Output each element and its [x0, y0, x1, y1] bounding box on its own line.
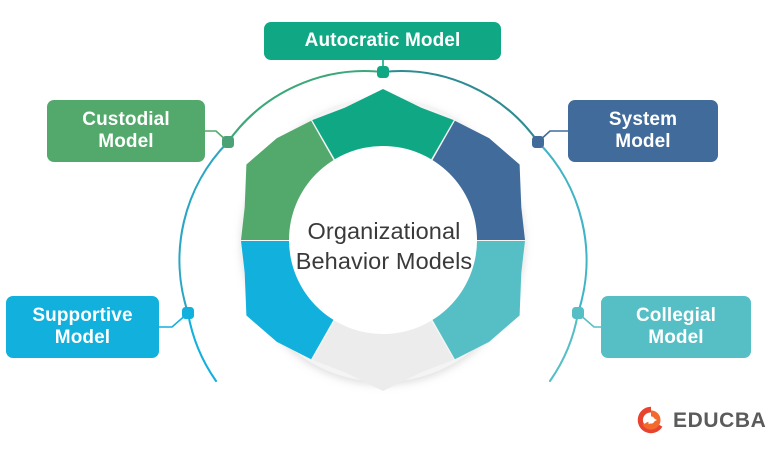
custodial-model-label-line-1: Custodial	[82, 109, 169, 131]
node-dot-supportive[interactable]	[182, 307, 194, 319]
educba-wordmark: EDUCBA	[673, 410, 766, 431]
educba-mark-icon	[636, 405, 666, 435]
center-title-line-1: Organizational	[248, 216, 520, 246]
autocratic-model-label[interactable]: Autocratic Model	[264, 22, 501, 60]
custodial-model-label[interactable]: Custodial Model	[47, 100, 205, 162]
collegial-model-label[interactable]: Collegial Model	[601, 296, 751, 358]
node-dot-custodial[interactable]	[222, 136, 234, 148]
node-dot-autocratic[interactable]	[377, 66, 389, 78]
system-model-label-line-2: Model	[615, 131, 670, 153]
supportive-model-label[interactable]: Supportive Model	[6, 296, 159, 358]
collegial-model-label-line-2: Model	[648, 327, 703, 349]
system-model-label[interactable]: System Model	[568, 100, 718, 162]
educba-logo[interactable]: EDUCBA	[636, 402, 758, 438]
outer-arc-system-to-collegial	[538, 142, 587, 313]
diagram-canvas: Organizational Behavior Models Autocrati…	[0, 0, 768, 453]
center-title-line-2: Behavior Models	[248, 246, 520, 276]
system-model-label-line-1: System	[609, 109, 677, 131]
custodial-model-label-line-2: Model	[98, 131, 153, 153]
outer-arc-supportive-tail	[188, 313, 216, 381]
center-title: Organizational Behavior Models	[248, 216, 520, 276]
outer-arc-custodial-to-supportive	[179, 142, 228, 313]
autocratic-model-label-text: Autocratic Model	[305, 30, 461, 52]
supportive-model-label-line-2: Model	[55, 327, 110, 349]
supportive-model-label-line-1: Supportive	[32, 305, 132, 327]
node-dot-system[interactable]	[532, 136, 544, 148]
outer-arc-collegial-tail	[550, 313, 578, 381]
node-dot-collegial[interactable]	[572, 307, 584, 319]
collegial-model-label-line-1: Collegial	[636, 305, 716, 327]
